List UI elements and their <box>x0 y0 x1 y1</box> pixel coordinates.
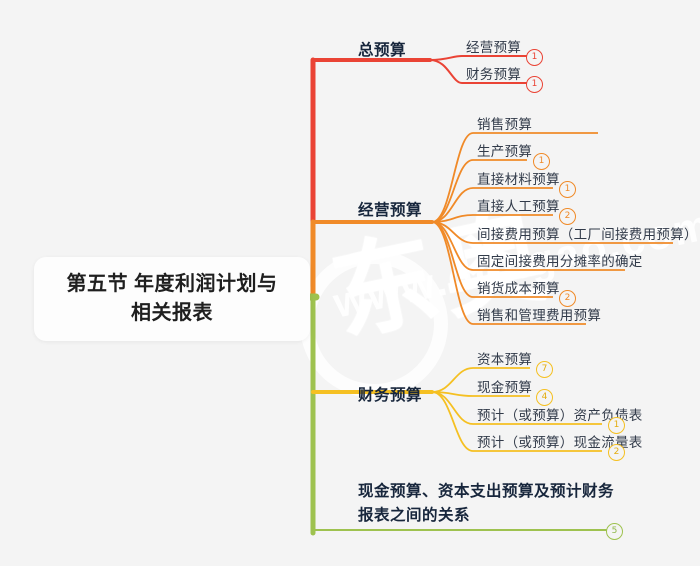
leaf-financial-budget-0[interactable]: 资本预算 <box>477 348 532 368</box>
leaf-operating-budget-2[interactable]: 直接材料预算 <box>477 168 560 188</box>
branch-label-relationship-line2: 报表之间的关系 <box>358 507 470 524</box>
badge-operating-budget-2: 1 <box>559 181 576 198</box>
branch-label-financial-budget[interactable]: 财务预算 <box>358 383 422 405</box>
branch-label-relationship[interactable]: 现金预算、资本支出预算及预计财务 报表之间的关系 <box>358 480 614 528</box>
badge-financial-budget-0: 7 <box>536 361 553 378</box>
branch-label-total-budget[interactable]: 总预算 <box>358 38 406 60</box>
root-title-line2: 相关报表 <box>131 302 213 324</box>
root-title-line1: 第五节 年度利润计划与 <box>66 273 277 295</box>
leaf-operating-budget-3[interactable]: 直接人工预算 <box>477 195 560 215</box>
leaf-operating-budget-6[interactable]: 销货成本预算 <box>477 277 560 297</box>
leaf-total-budget-0[interactable]: 经营预算 <box>466 36 521 56</box>
branch-label-relationship-line1: 现金预算、资本支出预算及预计财务 <box>358 483 614 500</box>
leaf-operating-budget-0[interactable]: 销售预算 <box>477 113 532 133</box>
leaf-total-budget-1[interactable]: 财务预算 <box>466 63 521 83</box>
leaf-operating-budget-7[interactable]: 销售和管理费用预算 <box>477 304 601 324</box>
badge-financial-budget-3: 2 <box>608 444 625 461</box>
badge-total-budget-1: 1 <box>526 76 543 93</box>
branch-label-operating-budget[interactable]: 经营预算 <box>358 198 422 220</box>
mindmap-canvas: 东奥 www.dongao.com 第五节 年度利 <box>0 0 700 566</box>
leaf-operating-budget-1[interactable]: 生产预算 <box>477 140 532 160</box>
root-title-card[interactable]: 第五节 年度利润计划与 相关报表 <box>34 257 310 341</box>
badge-relationship-0: 5 <box>606 523 623 540</box>
leaf-financial-budget-1[interactable]: 现金预算 <box>477 376 532 396</box>
leaf-operating-budget-4[interactable]: 间接费用预算（工厂间接费用预算） <box>477 223 698 243</box>
badge-total-budget-0: 1 <box>526 49 543 66</box>
root-title-text: 第五节 年度利润计划与 相关报表 <box>66 270 277 328</box>
leaf-operating-budget-5[interactable]: 固定间接费用分摊率的确定 <box>477 250 643 270</box>
